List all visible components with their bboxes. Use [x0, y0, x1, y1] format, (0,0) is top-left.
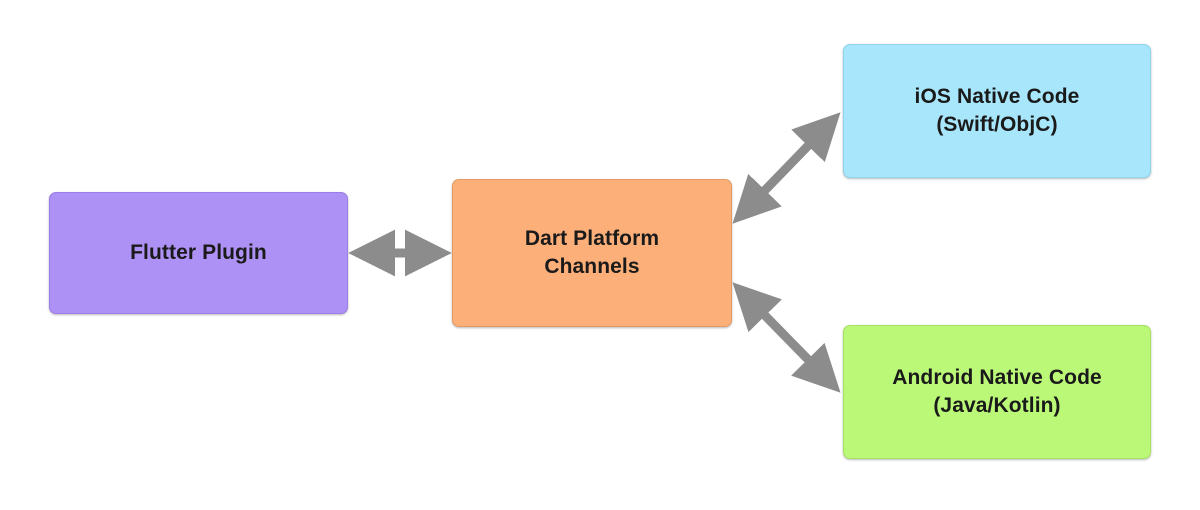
diagram-canvas: Flutter Plugin Dart Platform Channels iO…: [0, 0, 1200, 510]
node-android-native-code[interactable]: Android Native Code (Java/Kotlin): [843, 325, 1151, 459]
node-dart-platform-channels-label: Dart Platform Channels: [515, 225, 669, 282]
node-ios-native-code[interactable]: iOS Native Code (Swift/ObjC): [843, 44, 1151, 178]
node-ios-native-code-label: iOS Native Code (Swift/ObjC): [905, 83, 1090, 140]
node-android-native-code-label: Android Native Code (Java/Kotlin): [882, 364, 1112, 421]
node-flutter-plugin-label: Flutter Plugin: [120, 239, 277, 267]
connector-channels-to-android: [740, 290, 833, 385]
connector-channels-to-ios: [740, 120, 833, 216]
node-dart-platform-channels[interactable]: Dart Platform Channels: [452, 179, 732, 327]
node-flutter-plugin[interactable]: Flutter Plugin: [49, 192, 348, 314]
